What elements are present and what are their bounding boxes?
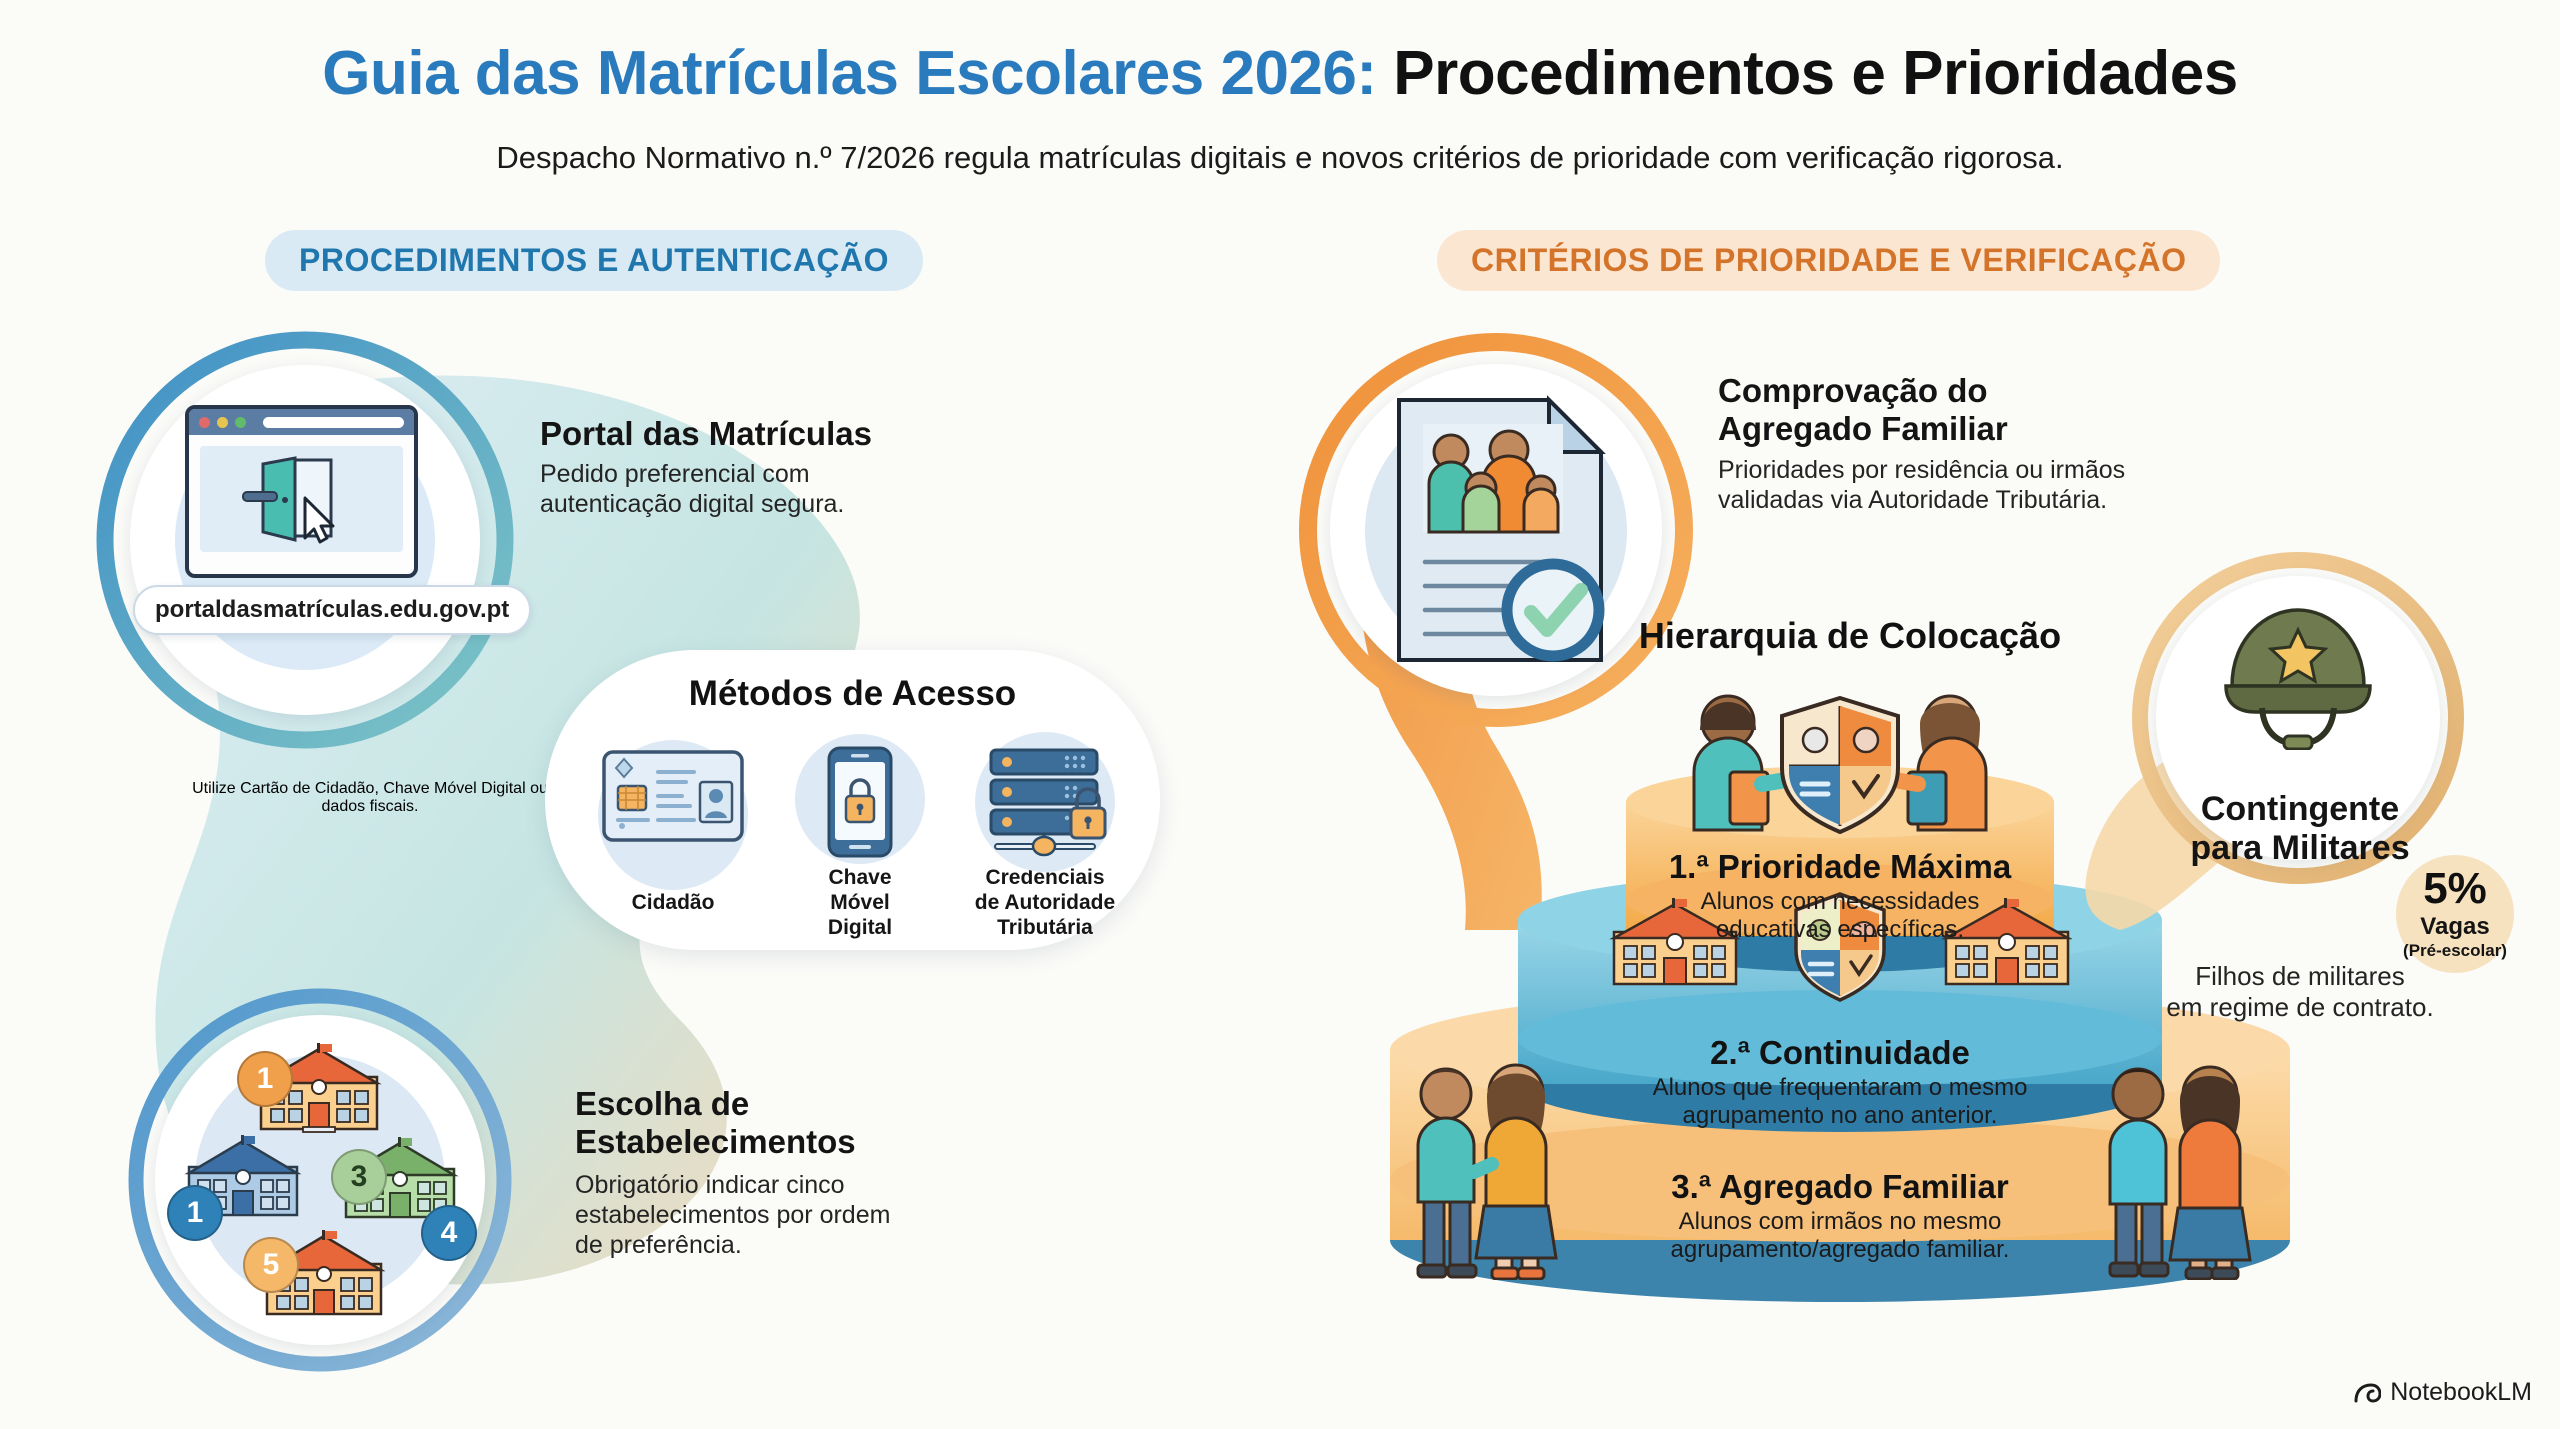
- browser-window-icon: [185, 405, 418, 578]
- server-lock-icon: [975, 746, 1115, 858]
- browser-dot-yellow: [217, 417, 228, 428]
- military-body: Filhos de militares em regime de contrat…: [2135, 955, 2465, 1023]
- portal-title: Portal das Matrículas: [540, 415, 1000, 453]
- tier-1-text: 1.ª Prioridade Máxima Alunos com necessi…: [1380, 848, 2300, 945]
- tier-3-body: Alunos com irmãos no mesmo agrupamento/a…: [1380, 1208, 2300, 1265]
- household-title: Comprovação do Agregado Familiar: [1718, 372, 2278, 447]
- tier-1-rank: 1.ª Prioridade Máxima: [1380, 848, 2300, 886]
- access-methods-card: Métodos de Acesso Cartão Cidadão: [545, 650, 1160, 950]
- browser-viewport: [200, 446, 403, 552]
- page-subtitle: Despacho Normativo n.º 7/2026 regula mat…: [0, 140, 2560, 176]
- hierarchy-title: Hierarquia de Colocação: [1600, 615, 2100, 657]
- watermark: NotebookLM: [2353, 1378, 2532, 1407]
- school-badge-4: 4: [421, 1205, 477, 1261]
- section-header-procedures: PROCEDIMENTOS E AUTENTICAÇÃO: [265, 230, 923, 291]
- method-card-citizen[interactable]: Cartão Cidadão: [583, 746, 763, 916]
- method-label-3: Credenciais de Autoridade Tributária: [945, 866, 1145, 940]
- household-body: Prioridades por residência ou irmãos val…: [1718, 455, 2278, 515]
- portal-url-chip[interactable]: portaldasmatrículas.edu.gov.pt: [133, 585, 531, 635]
- notebooklm-logo-icon: [2353, 1382, 2381, 1404]
- military-helmet-icon: [2218, 600, 2378, 750]
- tier-3-text: 3.ª Agregado Familiar Alunos com irmãos …: [1380, 1168, 2300, 1265]
- auth-note: Utilize Cartão de Cidadão, Chave Móvel D…: [190, 780, 550, 816]
- tier-2-body: Alunos que frequentaram o mesmo agrupame…: [1380, 1074, 2300, 1131]
- tier-1-body: Alunos com necessidades educativas espec…: [1380, 888, 2300, 945]
- page-title-rest: Procedimentos e Prioridades: [1377, 39, 2238, 108]
- schools-text-block: Escolha de Estabelecimentos Obrigatório …: [575, 1085, 1045, 1260]
- section-header-criteria: CRITÉRIOS DE PRIORIDADE E VERIFICAÇÃO: [1437, 230, 2220, 291]
- school-badge-5: 5: [243, 1237, 299, 1293]
- military-body-text: Filhos de militares em regime de contrat…: [2135, 961, 2465, 1023]
- school-badge-1: 1: [237, 1051, 293, 1107]
- login-door-icon: [237, 454, 367, 544]
- page-title-highlight: Guia das Matrículas Escolares 2026:: [322, 39, 1376, 108]
- household-text-block: Comprovação do Agregado Familiar Priorid…: [1718, 372, 2278, 515]
- method-card-mobilekey[interactable]: Chave Móvel Digital: [770, 746, 950, 940]
- tier-2-text: 2.ª Continuidade Alunos que frequentaram…: [1380, 1034, 2300, 1131]
- portal-text-block: Portal das Matrículas Pedido preferencia…: [540, 415, 1000, 519]
- mobile-lock-icon: [815, 746, 905, 858]
- schools-illustration: 1 1 3 4 5: [175, 1025, 475, 1335]
- infographic-canvas: Guia das Matrículas Escolares 2026: Proc…: [0, 0, 2560, 1429]
- students-shield-illustration: [1670, 680, 2010, 840]
- tier-3-rank: 3.ª Agregado Familiar: [1380, 1168, 2300, 1206]
- watermark-label: NotebookLM: [2390, 1378, 2532, 1407]
- portal-body: Pedido preferencial com autenticação dig…: [540, 459, 1000, 519]
- method-card-tax[interactable]: Credenciais de Autoridade Tributária: [945, 746, 1145, 940]
- school-badge-3: 3: [331, 1149, 387, 1205]
- id-card-icon: [600, 746, 746, 846]
- access-methods-title: Métodos de Acesso: [545, 674, 1160, 714]
- browser-dot-red: [199, 417, 210, 428]
- browser-dot-green: [235, 417, 246, 428]
- browser-url-bar: [263, 417, 404, 428]
- schools-body: Obrigatório indicar cinco estabeleciment…: [575, 1170, 1045, 1260]
- browser-titlebar: [189, 409, 414, 435]
- military-percent-value: 5%: [2423, 867, 2487, 911]
- schools-title: Escolha de Estabelecimentos: [575, 1085, 1045, 1160]
- method-label-2: Chave Móvel Digital: [770, 866, 950, 940]
- family-document-icon: [1385, 390, 1615, 670]
- tier-2-rank: 2.ª Continuidade: [1380, 1034, 2300, 1072]
- page-title: Guia das Matrículas Escolares 2026: Proc…: [0, 38, 2560, 109]
- school-badge-2: 1: [167, 1185, 223, 1241]
- military-percent-label: Vagas: [2420, 913, 2489, 941]
